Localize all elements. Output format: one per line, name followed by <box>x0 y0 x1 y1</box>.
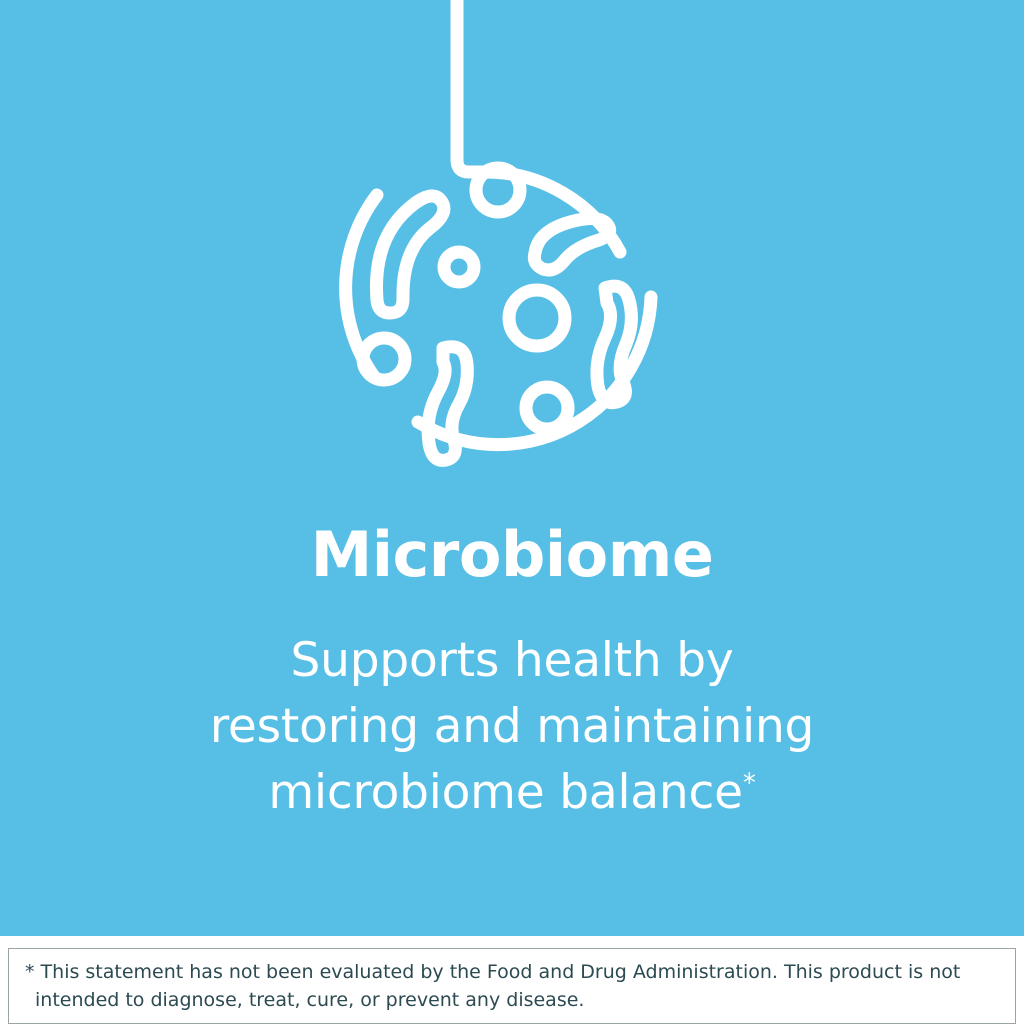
disclaimer-box: * This statement has not been evaluated … <box>8 948 1016 1024</box>
icon-rim-arc-left <box>346 195 377 378</box>
icon-coccus-large-center <box>509 290 565 346</box>
icon-rim-arc-top-right <box>484 172 620 252</box>
disclaimer-text: * This statement has not been evaluated … <box>25 959 999 1014</box>
hero-panel: Microbiome Supports health by restoring … <box>0 0 1024 936</box>
subtitle: Supports health by restoring and maintai… <box>0 586 1024 825</box>
icon-coccus-small-center <box>444 252 474 282</box>
icon-rod-bottom-center <box>428 347 467 461</box>
disclaimer-line-2: intended to diagnose, treat, cure, or pr… <box>35 989 584 1011</box>
microbiome-petri-dish-icon <box>302 0 722 500</box>
page-title: Microbiome <box>0 524 1024 586</box>
disclaimer-area: * This statement has not been evaluated … <box>0 936 1024 1024</box>
disclaimer-line-1: * This statement has not been evaluated … <box>25 961 960 983</box>
icon-rim-arc-right-bottom <box>418 297 651 445</box>
icon-coccus-bottom-right <box>526 387 568 429</box>
icon-rod-upper-right <box>534 218 609 270</box>
icon-stem-path <box>457 0 484 172</box>
subtitle-line-3: microbiome balance <box>268 765 742 820</box>
subtitle-line-2: restoring and maintaining <box>210 699 814 754</box>
icon-coccus-upper-center <box>476 168 520 212</box>
icon-rod-upper-left <box>376 196 443 313</box>
hero-text-block: Microbiome Supports health by restoring … <box>0 524 1024 825</box>
icon-coccus-lower-left <box>363 338 405 380</box>
icon-rod-right <box>597 286 631 403</box>
footnote-marker: * <box>743 768 756 798</box>
subtitle-line-1: Supports health by <box>291 633 734 688</box>
microbiome-benefit-card: Microbiome Supports health by restoring … <box>0 0 1024 1024</box>
